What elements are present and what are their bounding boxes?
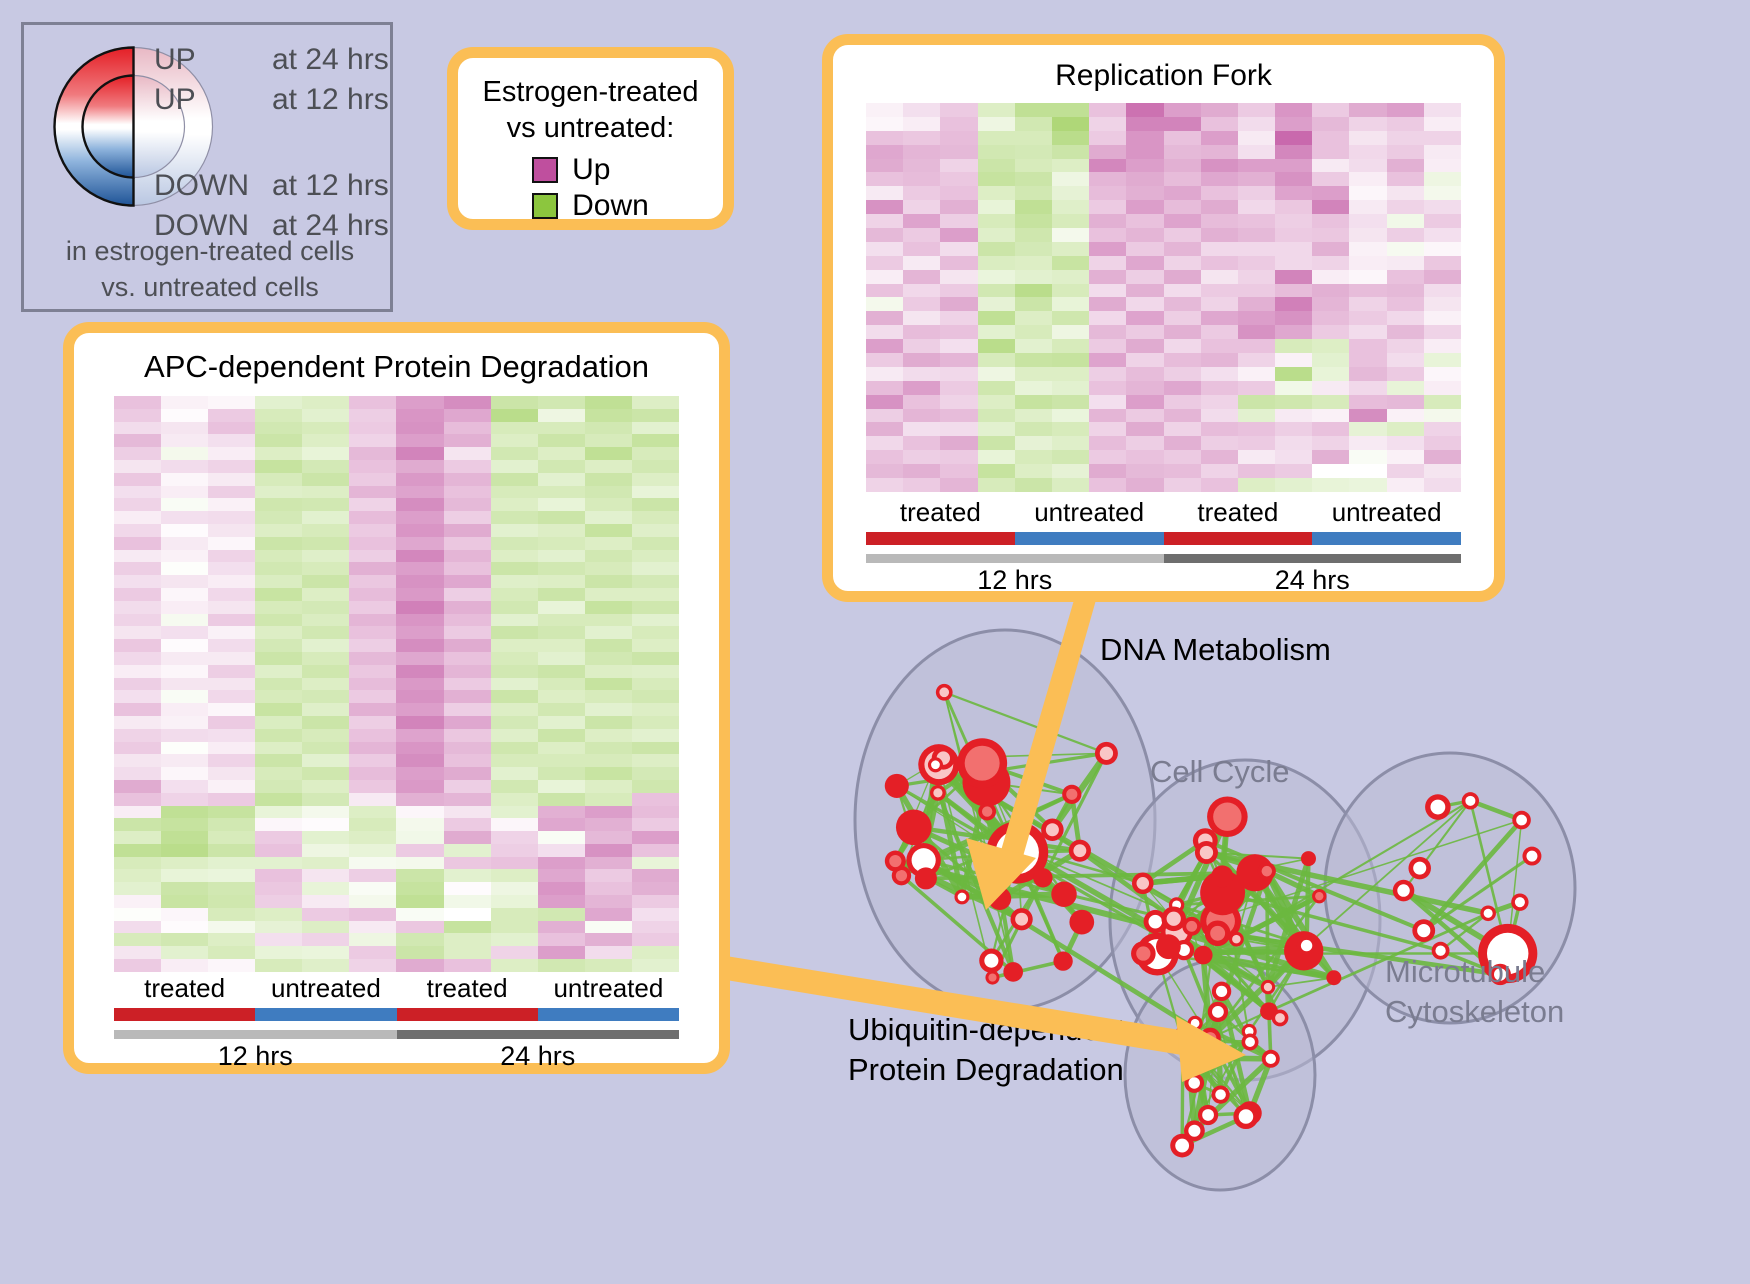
heatmap-cell [396, 537, 443, 550]
heatmap-cell [302, 946, 349, 959]
heatmap-cell [632, 473, 679, 486]
network-node-core [1200, 846, 1213, 859]
heatmap-cell [302, 921, 349, 934]
network-label: Microtubule [1385, 954, 1545, 989]
heatmap-cell [903, 145, 940, 159]
heatmap-cell [1238, 270, 1275, 284]
heatmap-cell [1126, 381, 1163, 395]
heatmap-cell [1424, 270, 1461, 284]
heatmap-cell [978, 145, 1015, 159]
heatmap-cell [491, 908, 538, 921]
heatmap-cell [1349, 464, 1386, 478]
heatmap-cell [255, 844, 302, 857]
heatmap-cell [585, 665, 632, 678]
heatmap-cell [491, 639, 538, 652]
network-node[interactable] [1194, 946, 1213, 965]
heatmap-cell [978, 186, 1015, 200]
heatmap-cell [978, 172, 1015, 186]
heatmap-cell [161, 409, 208, 422]
heatmap-cell [1201, 325, 1238, 339]
heatmap-cell [585, 562, 632, 575]
heatmap-cell [585, 575, 632, 588]
heatmap-cell [302, 473, 349, 486]
heatmap-cell [1126, 367, 1163, 381]
heatmap-cell [866, 367, 903, 381]
heatmap-cell [585, 537, 632, 550]
heatmap-cell [866, 256, 903, 270]
heatmap-cell [940, 478, 977, 492]
network-edge [1182, 1033, 1183, 1146]
heatmap-cell [1349, 214, 1386, 228]
heatmap-cell [349, 946, 396, 959]
heatmap-cell [491, 396, 538, 409]
heatmap-cell [491, 614, 538, 627]
heatmap-cell [1164, 145, 1201, 159]
heatmap-cell [255, 396, 302, 409]
legend-title-line2: vs untreated: [458, 110, 723, 146]
heatmap-cell [208, 806, 255, 819]
heatmap-cell [866, 422, 903, 436]
heatmap-cell [349, 895, 396, 908]
heatmap-cell [255, 550, 302, 563]
heatmap-cell [161, 818, 208, 831]
heatmap-cell [1015, 270, 1052, 284]
heatmap-cell [1126, 159, 1163, 173]
heatmap-cell [114, 690, 161, 703]
heatmap-cell [866, 131, 903, 145]
heatmap-cell [208, 614, 255, 627]
heatmap-cell [1126, 131, 1163, 145]
heatmap-cell [538, 780, 585, 793]
heatmap-cell [349, 793, 396, 806]
heatmap-cell [978, 395, 1015, 409]
network-node[interactable] [1211, 865, 1233, 887]
heatmap-cell [349, 857, 396, 870]
heatmap-cell [1312, 172, 1349, 186]
heatmap-cell [302, 665, 349, 678]
heatmap-cell [491, 626, 538, 639]
heatmap-cell [1312, 284, 1349, 298]
heatmap-cell [349, 754, 396, 767]
heatmap-cell [866, 172, 903, 186]
heatmap-cell [538, 665, 585, 678]
heatmap-cell [491, 793, 538, 806]
heatmap-cell [396, 806, 443, 819]
heatmap-cell [444, 908, 491, 921]
heatmap-cell [1312, 186, 1349, 200]
heatmap-cell [396, 588, 443, 601]
heatmap-cell [1238, 325, 1275, 339]
heatmap-cell [1052, 339, 1089, 353]
heatmap-cell [978, 200, 1015, 214]
heatmap-cell [1387, 117, 1424, 131]
heatmap-cell [444, 946, 491, 959]
heatmap-cell [491, 742, 538, 755]
heatmap-cell [538, 882, 585, 895]
heatmap-cell [491, 562, 538, 575]
network-node[interactable] [1051, 882, 1076, 907]
heatmap-cell [585, 550, 632, 563]
heatmap-cell [1312, 159, 1349, 173]
heatmap-cell [585, 588, 632, 601]
heatmap-cell [538, 562, 585, 575]
heatmap-cell [1349, 270, 1386, 284]
heatmap-cell [1164, 117, 1201, 131]
heatmap-cell [585, 806, 632, 819]
heatmap-cell [255, 626, 302, 639]
heatmap-cell [1387, 325, 1424, 339]
heatmap-cell [114, 857, 161, 870]
heatmap-cell [161, 639, 208, 652]
heatmap-cell [866, 145, 903, 159]
heatmap-cell [585, 908, 632, 921]
heatmap-cell [632, 690, 679, 703]
heatmap-cell [349, 716, 396, 729]
heatmap-cell [1387, 200, 1424, 214]
heatmap-cell [161, 562, 208, 575]
heatmap-cell [444, 754, 491, 767]
legend-item-down: Down [532, 188, 649, 224]
heatmap-cell [1164, 131, 1201, 145]
heatmap-cell [302, 959, 349, 972]
heatmap-cell [1015, 200, 1052, 214]
heatmap-cell [491, 882, 538, 895]
heatmap-cell [1052, 131, 1089, 145]
group-name-treated-24: treated [397, 973, 538, 1004]
group-bar-treated-24 [1164, 532, 1313, 545]
key-dir-label: DOWN [154, 169, 272, 203]
heatmap-cell [538, 831, 585, 844]
heatmap-cell [302, 729, 349, 742]
heatmap-cell [114, 588, 161, 601]
network-node[interactable] [1053, 951, 1072, 970]
network-node-core [1073, 844, 1086, 857]
replication-fork-panel: Replication Fork treated untreated treat… [822, 34, 1505, 602]
heatmap-cell [208, 857, 255, 870]
heatmap-cell [444, 780, 491, 793]
heatmap-cell [114, 959, 161, 972]
heatmap-cell [538, 921, 585, 934]
network-node-core [1149, 915, 1163, 929]
heatmap-cell [444, 665, 491, 678]
heatmap-cell [585, 946, 632, 959]
heatmap-cell [491, 780, 538, 793]
heatmap-cell [1238, 214, 1275, 228]
heatmap-cell [114, 921, 161, 934]
network-node-core [1186, 1052, 1198, 1064]
heatmap-cell [1015, 228, 1052, 242]
heatmap-cell [903, 450, 940, 464]
heatmap-cell [940, 159, 977, 173]
heatmap-cell [255, 882, 302, 895]
heatmap-cell [161, 793, 208, 806]
replication-fork-group-bar [866, 532, 1461, 545]
heatmap-cell [302, 409, 349, 422]
heatmap-cell [114, 396, 161, 409]
heatmap-cell [632, 626, 679, 639]
heatmap-cell [208, 537, 255, 550]
heatmap-cell [978, 436, 1015, 450]
heatmap-cell [940, 381, 977, 395]
heatmap-cell [1275, 228, 1312, 242]
network-node[interactable] [1069, 910, 1094, 935]
heatmap-cell [585, 895, 632, 908]
heatmap-cell [444, 524, 491, 537]
heatmap-cell [1312, 297, 1349, 311]
network-node-core [1264, 983, 1272, 991]
heatmap-cell [538, 537, 585, 550]
heatmap-cell [396, 575, 443, 588]
heatmap-cell [1015, 464, 1052, 478]
heatmap-cell [538, 678, 585, 691]
heatmap-cell [903, 395, 940, 409]
heatmap-cell [208, 793, 255, 806]
network-node[interactable] [915, 867, 937, 889]
group-bar-treated-12 [866, 532, 1015, 545]
heatmap-cell [1312, 228, 1349, 242]
heatmap-cell [302, 793, 349, 806]
heatmap-cell [114, 550, 161, 563]
heatmap-cell [1126, 200, 1163, 214]
network-edge [1267, 871, 1268, 987]
heatmap-cell [585, 626, 632, 639]
heatmap-cell [208, 652, 255, 665]
heatmap-cell [302, 716, 349, 729]
network-node[interactable] [885, 774, 909, 798]
heatmap-cell [1275, 339, 1312, 353]
heatmap-cell [1164, 242, 1201, 256]
heatmap-cell [903, 409, 940, 423]
heatmap-cell [632, 933, 679, 946]
heatmap-cell [255, 831, 302, 844]
heatmap-cell [302, 882, 349, 895]
group-name-untreated-24: untreated [1312, 497, 1461, 528]
heatmap-cell [585, 831, 632, 844]
heatmap-cell [302, 703, 349, 716]
heatmap-cell [1164, 103, 1201, 117]
heatmap-cell [255, 818, 302, 831]
heatmap-cell [585, 703, 632, 716]
heatmap-cell [940, 311, 977, 325]
heatmap-cell [444, 473, 491, 486]
network-node-core [1100, 747, 1113, 760]
network-node-core [1202, 1109, 1214, 1121]
heatmap-cell [903, 256, 940, 270]
heatmap-cell [491, 767, 538, 780]
heatmap-cell [1275, 381, 1312, 395]
heatmap-cell [255, 614, 302, 627]
heatmap-cell [585, 511, 632, 524]
heatmap-cell [208, 550, 255, 563]
heatmap-cell [396, 716, 443, 729]
heatmap-cell [161, 716, 208, 729]
heatmap-cell [632, 869, 679, 882]
heatmap-cell [161, 690, 208, 703]
heatmap-cell [1238, 367, 1275, 381]
heatmap-cell [161, 601, 208, 614]
heatmap-cell [940, 103, 977, 117]
heatmap-cell [1089, 270, 1126, 284]
heatmap-cell [114, 626, 161, 639]
heatmap-cell [1238, 409, 1275, 423]
heatmap-cell [1349, 103, 1386, 117]
heatmap-cell [1424, 228, 1461, 242]
network-node[interactable] [988, 887, 1011, 910]
heatmap-cell [1201, 200, 1238, 214]
heatmap-cell [940, 297, 977, 311]
heatmap-cell [538, 754, 585, 767]
heatmap-cell [978, 270, 1015, 284]
heatmap-cell [396, 767, 443, 780]
apc-group-bar [114, 1008, 679, 1021]
heatmap-cell [632, 742, 679, 755]
heatmap-cell [302, 601, 349, 614]
heatmap-cell [1052, 284, 1089, 298]
key-dir-label: UP [154, 43, 272, 77]
heatmap-cell [866, 311, 903, 325]
heatmap-cell [1052, 478, 1089, 492]
heatmap-cell [491, 690, 538, 703]
heatmap-cell [349, 537, 396, 550]
network-node[interactable] [1156, 934, 1181, 959]
heatmap-cell [1349, 395, 1386, 409]
heatmap-cell [208, 562, 255, 575]
heatmap-cell [1089, 311, 1126, 325]
heatmap-cell [349, 550, 396, 563]
network-node-core [1413, 862, 1426, 875]
heatmap-cell [444, 895, 491, 908]
heatmap-cell [349, 780, 396, 793]
heatmap-cell [632, 908, 679, 921]
heatmap-cell [1015, 367, 1052, 381]
heatmap-cell [255, 690, 302, 703]
heatmap-cell [161, 895, 208, 908]
heatmap-cell [255, 460, 302, 473]
heatmap-cell [1349, 145, 1386, 159]
heatmap-cell [114, 665, 161, 678]
heatmap-cell [396, 921, 443, 934]
heatmap-cell [1126, 145, 1163, 159]
heatmap-cell [161, 396, 208, 409]
heatmap-cell [1424, 353, 1461, 367]
legend-items: Up Down [532, 152, 649, 224]
heatmap-cell [978, 103, 1015, 117]
heatmap-cell [1164, 270, 1201, 284]
heatmap-cell [396, 831, 443, 844]
heatmap-cell [1387, 367, 1424, 381]
heatmap-cell [1387, 464, 1424, 478]
heatmap-cell [866, 409, 903, 423]
heatmap-cell [1164, 422, 1201, 436]
heatmap-cell [161, 447, 208, 460]
heatmap-cell [1126, 409, 1163, 423]
heatmap-cell [302, 857, 349, 870]
heatmap-cell [1275, 409, 1312, 423]
heatmap-cell [1126, 228, 1163, 242]
heatmap-cell [1089, 214, 1126, 228]
heatmap-cell [903, 422, 940, 436]
heatmap-cell [1126, 450, 1163, 464]
network-node[interactable] [1033, 868, 1052, 887]
heatmap-cell [114, 780, 161, 793]
heatmap-cell [1126, 242, 1163, 256]
network-label: Ubiquitin-dependent [848, 1012, 1126, 1047]
heatmap-cell [302, 537, 349, 550]
heatmap-cell [444, 447, 491, 460]
key-spacer [154, 123, 394, 169]
heatmap-cell [1387, 242, 1424, 256]
heatmap-cell [538, 486, 585, 499]
heatmap-cell [1238, 422, 1275, 436]
network-node[interactable] [896, 809, 932, 845]
network-node-core [1465, 796, 1475, 806]
heatmap-cell [114, 716, 161, 729]
network-node[interactable] [1009, 840, 1024, 855]
heatmap-cell [585, 422, 632, 435]
heatmap-cell [1089, 284, 1126, 298]
heatmap-cell [255, 780, 302, 793]
heatmap-cell [114, 575, 161, 588]
network-node[interactable] [1003, 962, 1023, 982]
heatmap-cell [302, 780, 349, 793]
heatmap-cell [538, 575, 585, 588]
heatmap-cell [208, 473, 255, 486]
heatmap-cell [349, 665, 396, 678]
heatmap-cell [1164, 409, 1201, 423]
heatmap-cell [1015, 409, 1052, 423]
network-node-core [1186, 921, 1197, 932]
heatmap-cell [491, 921, 538, 934]
heatmap-cell [302, 498, 349, 511]
heatmap-cell [1312, 464, 1349, 478]
heatmap-cell [208, 818, 255, 831]
heatmap-cell [1387, 186, 1424, 200]
network-node-core [1245, 1037, 1255, 1047]
heatmap-cell [632, 729, 679, 742]
heatmap-cell [396, 703, 443, 716]
network-node[interactable] [1326, 970, 1341, 985]
heatmap-cell [255, 601, 302, 614]
heatmap-cell [978, 478, 1015, 492]
heatmap-cell [1164, 311, 1201, 325]
heatmap-cell [1424, 117, 1461, 131]
heatmap-cell [161, 498, 208, 511]
heatmap-cell [585, 729, 632, 742]
heatmap-cell [1312, 409, 1349, 423]
heatmap-cell [632, 806, 679, 819]
heatmap-cell [396, 818, 443, 831]
heatmap-cell [1424, 200, 1461, 214]
heatmap-cell [491, 473, 538, 486]
heatmap-cell [1387, 450, 1424, 464]
heatmap-cell [585, 754, 632, 767]
heatmap-cell [349, 434, 396, 447]
heatmap-cell [491, 729, 538, 742]
heatmap-cell [349, 678, 396, 691]
network-node-core [1515, 897, 1525, 907]
heatmap-cell [114, 473, 161, 486]
heatmap-cell [302, 460, 349, 473]
network-node[interactable] [1301, 851, 1316, 866]
heatmap-cell [1052, 228, 1089, 242]
heatmap-cell [302, 818, 349, 831]
heatmap-cell [444, 626, 491, 639]
network-label: Protein Degradation [848, 1052, 1124, 1087]
heatmap-cell [538, 869, 585, 882]
heatmap-cell [632, 396, 679, 409]
heatmap-cell [1126, 478, 1163, 492]
heatmap-cell [349, 524, 396, 537]
